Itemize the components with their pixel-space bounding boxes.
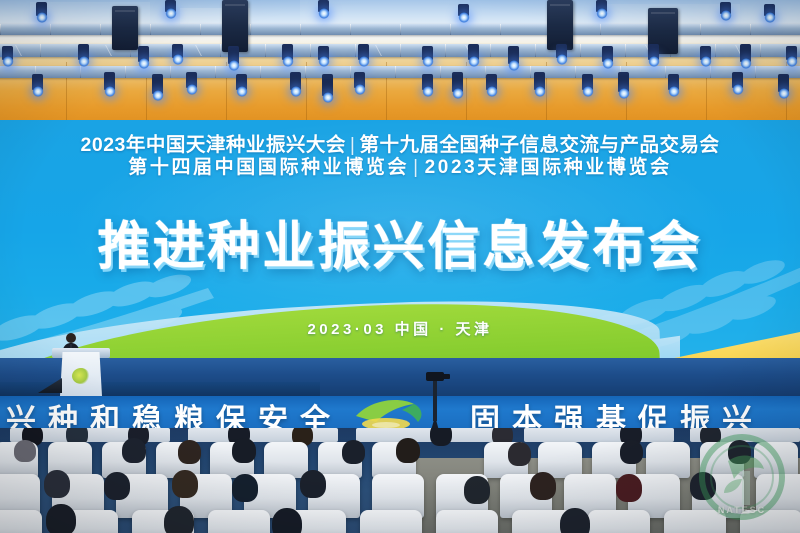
stage-light <box>720 2 731 14</box>
stage-light <box>318 0 329 12</box>
audience-head <box>172 470 198 498</box>
audience-seat <box>646 442 690 478</box>
line-array-speaker <box>112 6 138 50</box>
stage-light <box>138 46 149 62</box>
audience-head <box>508 442 531 466</box>
audience-head <box>232 474 258 502</box>
audience-head <box>430 428 452 446</box>
stage-light <box>556 44 567 58</box>
svg-text:种: 种 <box>739 470 746 479</box>
stage-light <box>582 74 593 90</box>
audience-head <box>342 440 365 464</box>
stage-light <box>228 46 239 64</box>
screen-header-line-2: 第十四届中国国际种业博览会|2023天津国际种业博览会 <box>0 152 800 179</box>
stage-light <box>700 46 711 60</box>
stage-light <box>618 72 629 92</box>
line-array-speaker <box>547 0 573 50</box>
audience-head <box>178 440 201 464</box>
stage-light <box>78 44 89 60</box>
audience-head <box>620 440 643 464</box>
audience-seat <box>588 510 650 533</box>
header-line2-part1: 第十四届中国国际种业博览会 <box>128 157 409 178</box>
conference-stage-photo: 2023年中国天津种业振兴大会|第十九届全国种子信息交流与产品交易会 第十四届中… <box>0 0 800 533</box>
audience-head <box>300 470 326 498</box>
stage-light <box>236 74 247 90</box>
audience-head <box>616 474 642 502</box>
stage-light <box>648 44 659 60</box>
stage-light <box>508 46 519 64</box>
audience-head <box>44 470 70 498</box>
audience-seat <box>0 510 42 533</box>
stage-light <box>2 46 13 60</box>
stage-light <box>732 72 743 88</box>
audience-seat <box>208 510 270 533</box>
header-line2-part2: 2023天津国际种业博览会 <box>425 157 672 178</box>
stage-light <box>740 44 751 62</box>
stage-light <box>322 74 333 96</box>
stage-light <box>152 74 163 94</box>
stage-light <box>786 46 797 60</box>
stage-light <box>358 44 369 60</box>
audience-head <box>530 472 556 500</box>
ceiling-and-wall <box>0 0 800 126</box>
stage-light <box>290 72 301 90</box>
stage-light <box>422 46 433 60</box>
stage-light <box>764 4 775 16</box>
audience-head <box>232 438 256 463</box>
stage-light <box>468 44 479 60</box>
stage-light <box>36 2 47 16</box>
audience-seat <box>360 510 422 533</box>
audience-head <box>14 440 36 462</box>
stage-light <box>668 74 679 90</box>
stage-light <box>422 74 433 90</box>
stage-light <box>354 72 365 88</box>
audience-head <box>396 438 420 463</box>
stage-light <box>165 0 176 12</box>
audience-head <box>464 476 490 504</box>
header-separator-2: | <box>409 157 425 178</box>
stage-light <box>318 46 329 60</box>
audience-seat <box>264 442 308 478</box>
stage-light <box>186 72 197 88</box>
podium-emblem <box>72 368 90 384</box>
line-array-speaker <box>222 0 248 52</box>
stage-light <box>596 0 607 12</box>
audience-head <box>164 506 194 533</box>
audience-seat <box>436 510 498 533</box>
stage-light <box>452 72 463 92</box>
stage-light <box>602 46 613 62</box>
lighting-truss-front <box>0 66 800 78</box>
audience-head <box>122 438 146 463</box>
head-table <box>524 428 674 442</box>
stage-light <box>458 4 469 16</box>
stage-light <box>282 44 293 60</box>
audience-head <box>46 504 76 533</box>
watermark-logo: 种 NATESC <box>690 427 794 531</box>
audience-head <box>272 508 302 533</box>
head-table <box>188 428 338 442</box>
watermark-text: NATESC <box>690 505 794 515</box>
stage-light <box>104 72 115 90</box>
stage-light <box>778 74 789 92</box>
stage-light <box>32 74 43 90</box>
stage-light <box>534 72 545 90</box>
page-title: 推进种业振兴信息发布会 <box>0 204 800 279</box>
audience-head <box>560 508 590 533</box>
event-date-location: 2023·03 中国 · 天津 <box>0 318 800 339</box>
audience-area <box>0 428 800 533</box>
stage-light <box>172 44 183 58</box>
stage-light <box>486 74 497 90</box>
audience-head <box>104 472 130 500</box>
